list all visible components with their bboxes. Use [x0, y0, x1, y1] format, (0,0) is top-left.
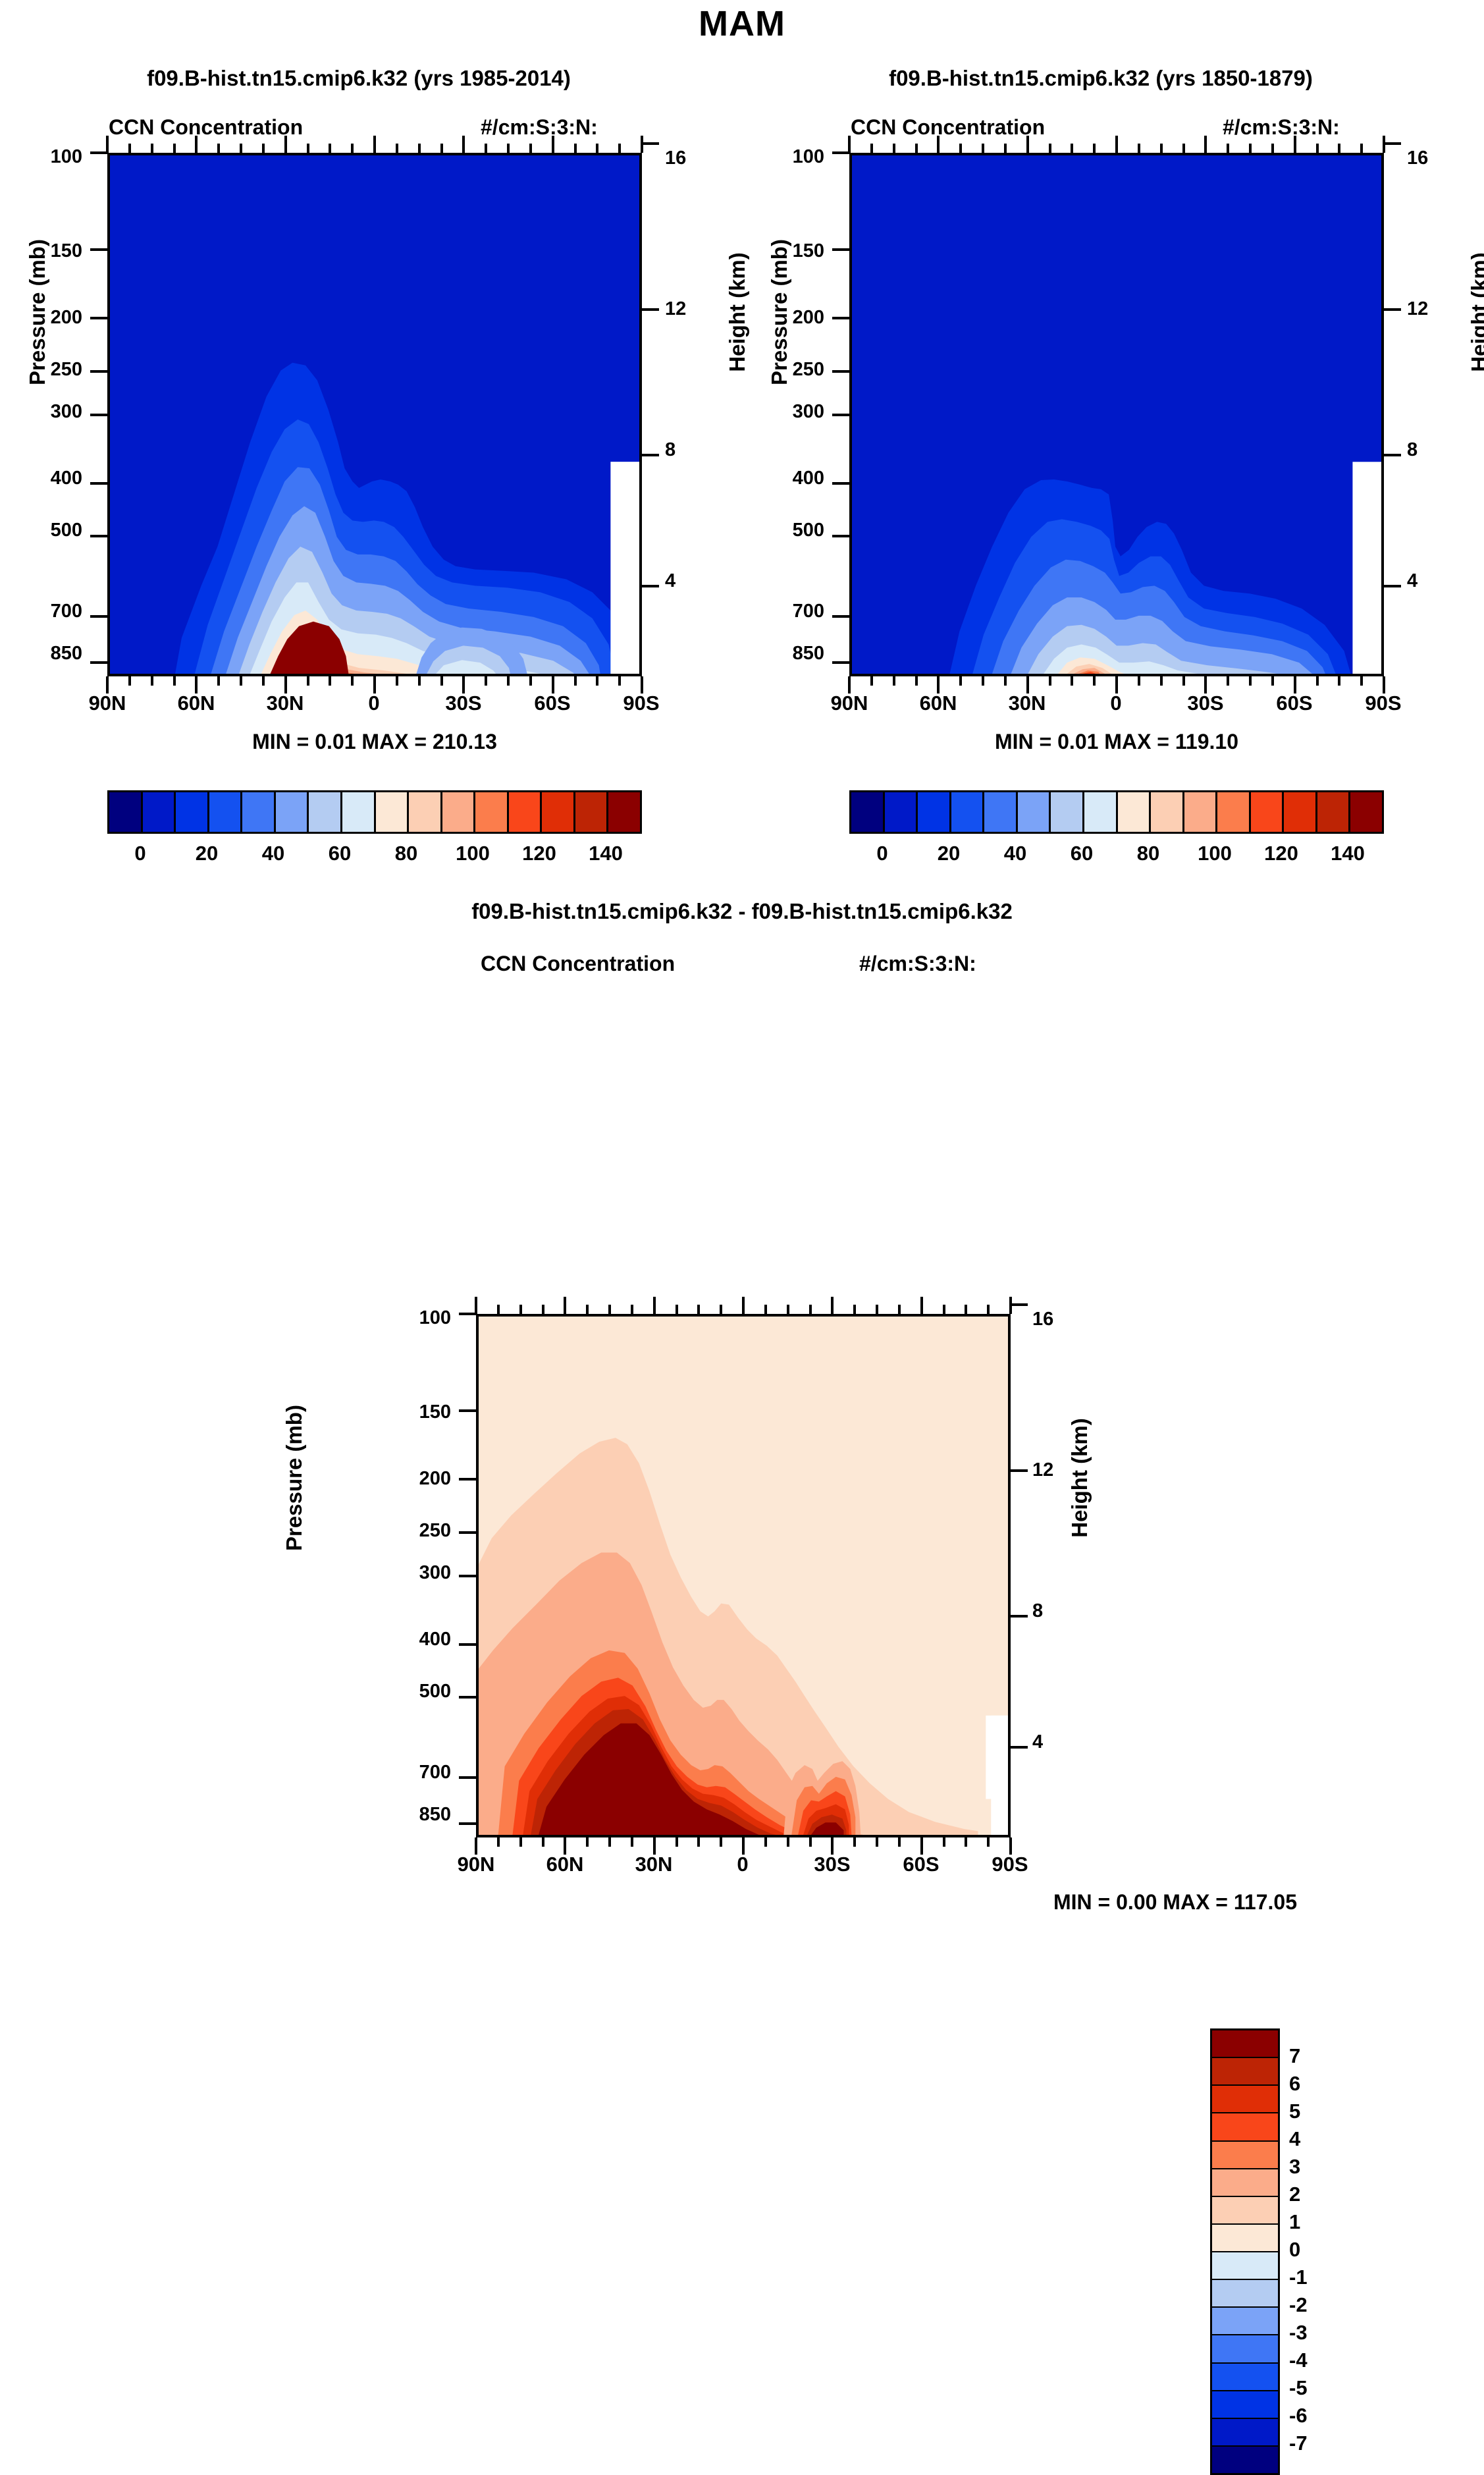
x-major-tick	[564, 1297, 566, 1314]
y2-major-tick	[642, 308, 659, 311]
y-major-tick	[459, 1478, 476, 1481]
colorbar-cell	[1212, 2030, 1278, 2058]
x-minor-tick	[618, 144, 621, 153]
xtick-30S: 30S	[1166, 692, 1245, 715]
x-minor-tick	[876, 1837, 878, 1847]
colorbar-cell	[851, 792, 885, 832]
x-minor-tick	[485, 144, 487, 153]
x-major-tick	[195, 676, 198, 694]
x-major-tick	[831, 1837, 834, 1855]
cbar-tick-60: 60	[329, 842, 351, 865]
ytick-100: 100	[13, 146, 82, 168]
x-minor-tick	[262, 144, 265, 153]
x-minor-tick	[809, 1837, 812, 1847]
xtick-90S: 90S	[970, 1853, 1049, 1876]
xtick-30N: 30N	[988, 692, 1067, 715]
x-minor-tick	[1249, 144, 1252, 153]
x-minor-tick	[965, 1837, 967, 1847]
x-minor-tick	[529, 144, 532, 153]
ytick-150: 150	[13, 240, 82, 262]
vcbar-tick-m1: -1	[1289, 2266, 1308, 2289]
x-minor-tick	[982, 144, 984, 153]
y-major-tick	[90, 414, 107, 416]
x-minor-tick	[586, 1837, 589, 1847]
colorbar-cell	[1212, 2086, 1278, 2113]
colorbar-cell	[376, 792, 410, 832]
x-minor-tick	[898, 1837, 901, 1847]
ytick-400: 400	[755, 468, 824, 489]
x-minor-tick	[965, 1305, 967, 1314]
ytick-200: 200	[755, 307, 824, 329]
cbar-tick-140: 140	[1331, 842, 1365, 865]
colorbar-cell	[1212, 2391, 1278, 2419]
cbar-tick-0: 0	[134, 842, 146, 865]
x-major-tick	[1294, 676, 1296, 694]
y2tick-8: 8	[665, 439, 676, 461]
y-major-tick	[90, 615, 107, 618]
x-minor-tick	[217, 676, 220, 686]
xtick-60N: 60N	[899, 692, 978, 715]
y2-major-tick	[642, 142, 659, 145]
y-major-tick	[832, 615, 849, 618]
x-minor-tick	[915, 676, 918, 686]
x-major-tick	[742, 1837, 745, 1855]
x-minor-tick	[870, 676, 873, 686]
x-minor-tick	[720, 1305, 722, 1314]
colorbar-cell	[475, 792, 509, 832]
ytick-300: 300	[755, 401, 824, 423]
x-major-tick	[462, 136, 465, 153]
x-major-tick	[641, 676, 643, 694]
figure-title: MAM	[0, 3, 1484, 44]
panel-top-left-title: f09.B-hist.tn15.cmip6.k32 (yrs 1985-2014…	[0, 66, 718, 91]
ytick-200: 200	[382, 1468, 451, 1490]
ytick-700: 700	[382, 1762, 451, 1783]
x-minor-tick	[151, 676, 153, 686]
x-major-tick	[742, 1297, 745, 1314]
cbar-tick-100: 100	[1198, 842, 1232, 865]
x-minor-tick	[893, 144, 895, 153]
x-minor-tick	[507, 676, 510, 686]
vcbar-tick-6: 6	[1289, 2072, 1300, 2096]
x-major-tick	[848, 136, 851, 153]
x-minor-tick	[1271, 676, 1274, 686]
vcbar-tick-m7: -7	[1289, 2432, 1308, 2455]
x-minor-tick	[1004, 676, 1007, 686]
y-major-tick	[459, 1776, 476, 1779]
y2tick-8: 8	[1032, 1600, 1043, 1622]
y2-major-tick	[642, 585, 659, 587]
cbar-tick-80: 80	[1137, 842, 1159, 865]
xtick-90N: 90N	[437, 1853, 516, 1876]
x-minor-tick	[497, 1837, 500, 1847]
vcbar-tick-0: 0	[1289, 2238, 1300, 2262]
vcbar-tick-m2: -2	[1289, 2293, 1308, 2317]
x-minor-tick	[351, 144, 354, 153]
x-major-tick	[653, 1837, 656, 1855]
panel-top-right-variable-label: CCN Concentration	[851, 115, 1045, 140]
x-minor-tick	[1316, 676, 1319, 686]
x-minor-tick	[151, 144, 153, 153]
x-minor-tick	[853, 1837, 856, 1847]
colorbar-cell	[309, 792, 342, 832]
x-minor-tick	[485, 676, 487, 686]
x-major-tick	[462, 676, 465, 694]
y-major-tick	[459, 1822, 476, 1825]
y-major-tick	[832, 535, 849, 537]
x-minor-tick	[1004, 144, 1007, 153]
x-minor-tick	[809, 1305, 812, 1314]
x-major-tick	[373, 676, 376, 694]
ytick-100: 100	[382, 1307, 451, 1329]
ytick-250: 250	[13, 359, 82, 381]
x-minor-tick	[608, 1305, 611, 1314]
y-major-tick	[832, 370, 849, 373]
x-minor-tick	[396, 144, 398, 153]
ytick-250: 250	[382, 1520, 451, 1542]
x-minor-tick	[982, 676, 984, 686]
cbar-tick-40: 40	[1004, 842, 1026, 865]
colorbar-cell	[575, 792, 609, 832]
x-minor-tick	[418, 676, 421, 686]
ytick-400: 400	[13, 468, 82, 489]
x-major-tick	[1026, 136, 1029, 153]
y-major-tick	[459, 1643, 476, 1646]
ytick-850: 850	[755, 643, 824, 665]
x-minor-tick	[1182, 676, 1185, 686]
y2-major-tick	[1011, 1615, 1028, 1618]
colorbar-cell	[1118, 792, 1152, 832]
xtick-60S: 60S	[1255, 692, 1334, 715]
panel-top-right-plot	[849, 153, 1384, 676]
xtick-30S: 30S	[424, 692, 503, 715]
y2tick-16: 16	[1032, 1309, 1053, 1330]
figure-root: MAM f09.B-hist.tn15.cmip6.k32 (yrs 1985-…	[0, 0, 1484, 1581]
x-minor-tick	[440, 144, 443, 153]
x-minor-tick	[574, 676, 577, 686]
y-major-tick	[832, 414, 849, 416]
vcbar-tick-m5: -5	[1289, 2376, 1308, 2400]
x-minor-tick	[1049, 144, 1051, 153]
x-minor-tick	[307, 676, 309, 686]
ytick-700: 700	[755, 601, 824, 622]
colorbar-cell	[1212, 2364, 1278, 2391]
panel-top-left-minmax: MIN = 0.01 MAX = 210.13	[107, 730, 642, 754]
x-major-tick	[937, 676, 940, 694]
x-minor-tick	[542, 1305, 544, 1314]
vcbar-tick-4: 4	[1289, 2127, 1300, 2151]
xtick-60S: 60S	[882, 1853, 961, 1876]
colorbar-cell	[1212, 2197, 1278, 2225]
y-major-tick	[90, 370, 107, 373]
x-minor-tick	[898, 1305, 901, 1314]
x-minor-tick	[1071, 144, 1073, 153]
x-minor-tick	[574, 144, 577, 153]
colorbar-cell	[885, 792, 918, 832]
x-minor-tick	[351, 676, 354, 686]
y-major-tick	[90, 151, 107, 154]
y2-major-tick	[1384, 454, 1401, 456]
x-minor-tick	[519, 1305, 522, 1314]
x-minor-tick	[1049, 676, 1051, 686]
ytick-150: 150	[755, 240, 824, 262]
x-minor-tick	[870, 144, 873, 153]
colorbar-cell	[1212, 2169, 1278, 2197]
x-minor-tick	[618, 676, 621, 686]
cbar-tick-60: 60	[1071, 842, 1093, 865]
colorbar-cell	[176, 792, 209, 832]
y-major-tick	[832, 151, 849, 154]
colorbar-cell	[1018, 792, 1051, 832]
colorbar-cell	[1212, 2335, 1278, 2363]
y2-major-tick	[1011, 1469, 1028, 1472]
vcbar-tick-1: 1	[1289, 2210, 1300, 2234]
x-minor-tick	[329, 144, 331, 153]
panel-top-right-contour-field	[852, 155, 1381, 674]
x-major-tick	[1115, 136, 1118, 153]
colorbar-top-right-labels: 0 20 40 60 80 100 120 140	[849, 842, 1380, 868]
panel-bottom-minmax: MIN = 0.00 MAX = 117.05	[1053, 1890, 1422, 1915]
x-minor-tick	[676, 1305, 678, 1314]
colorbar-cell	[1217, 792, 1251, 832]
x-minor-tick	[262, 676, 265, 686]
colorbar-top-left-labels: 0 20 40 60 80 100 120 140	[107, 842, 638, 868]
x-minor-tick	[697, 1305, 700, 1314]
cbar-tick-0: 0	[876, 842, 888, 865]
y-major-tick	[459, 1575, 476, 1577]
cbar-tick-140: 140	[589, 842, 623, 865]
xtick-60N: 60N	[525, 1853, 604, 1876]
y-major-tick	[90, 317, 107, 319]
xtick-30N: 30N	[614, 1853, 693, 1876]
x-minor-tick	[173, 144, 176, 153]
x-minor-tick	[697, 1837, 700, 1847]
ytick-500: 500	[382, 1681, 451, 1702]
x-minor-tick	[1138, 676, 1140, 686]
colorbar-cell	[409, 792, 442, 832]
y-major-tick	[459, 1409, 476, 1412]
vcbar-tick-2: 2	[1289, 2183, 1300, 2206]
x-minor-tick	[240, 144, 242, 153]
x-minor-tick	[608, 1837, 611, 1847]
ytick-300: 300	[13, 401, 82, 423]
x-minor-tick	[128, 144, 131, 153]
colorbar-cell	[1212, 2142, 1278, 2169]
xtick-0: 0	[703, 1853, 782, 1876]
x-minor-tick	[1316, 144, 1319, 153]
colorbar-top-right[interactable]	[849, 790, 1384, 834]
colorbar-top-left[interactable]	[107, 790, 642, 834]
colorbar-cell	[984, 792, 1018, 832]
vcbar-tick-m6: -6	[1289, 2404, 1308, 2428]
xtick-30S: 30S	[793, 1853, 872, 1876]
y-major-tick	[832, 248, 849, 251]
x-major-tick	[475, 1837, 477, 1855]
panel-top-left-plot	[107, 153, 642, 676]
x-minor-tick	[596, 144, 598, 153]
colorbar-cell	[1212, 2308, 1278, 2335]
y2tick-12: 12	[1032, 1459, 1053, 1481]
x-minor-tick	[893, 676, 895, 686]
colorbar-cell	[1251, 792, 1285, 832]
x-minor-tick	[915, 144, 918, 153]
y2-major-tick	[1384, 585, 1401, 587]
colorbar-cell	[608, 792, 640, 832]
x-minor-tick	[787, 1305, 789, 1314]
colorbar-cell	[1212, 2113, 1278, 2141]
x-minor-tick	[418, 144, 421, 153]
y2-major-tick	[1384, 142, 1401, 145]
y-major-tick	[459, 1531, 476, 1534]
x-major-tick	[831, 1297, 834, 1314]
panel-top-right-minmax: MIN = 0.01 MAX = 119.10	[849, 730, 1384, 754]
x-minor-tick	[787, 1837, 789, 1847]
x-major-tick	[1383, 676, 1385, 694]
x-major-tick	[195, 136, 198, 153]
cbar-tick-120: 120	[1264, 842, 1298, 865]
panel-top-right-units-label: #/cm:S:3:N:	[1223, 115, 1340, 140]
x-minor-tick	[128, 676, 131, 686]
x-minor-tick	[1271, 144, 1274, 153]
panel-top-left-height-axis-label: Height (km)	[725, 213, 750, 411]
xtick-90S: 90S	[602, 692, 681, 715]
colorbar-cell	[209, 792, 243, 832]
x-minor-tick	[1182, 144, 1185, 153]
cbar-tick-40: 40	[262, 842, 284, 865]
x-major-tick	[552, 676, 554, 694]
y2tick-16: 16	[665, 148, 686, 169]
x-minor-tick	[1138, 144, 1140, 153]
colorbar-cell	[918, 792, 951, 832]
y-major-tick	[459, 1313, 476, 1315]
colorbar-cell	[1212, 2058, 1278, 2086]
vcbar-tick-m4: -4	[1289, 2349, 1308, 2372]
ytick-400: 400	[382, 1629, 451, 1650]
x-minor-tick	[943, 1305, 945, 1314]
x-minor-tick	[1338, 144, 1340, 153]
y2tick-12: 12	[665, 298, 686, 320]
x-minor-tick	[329, 676, 331, 686]
cbar-tick-20: 20	[196, 842, 218, 865]
vcbar-tick-5: 5	[1289, 2100, 1300, 2123]
x-minor-tick	[943, 1837, 945, 1847]
x-major-tick	[1204, 136, 1207, 153]
y2tick-4: 4	[1032, 1731, 1043, 1753]
x-minor-tick	[519, 1837, 522, 1847]
x-minor-tick	[959, 676, 962, 686]
x-minor-tick	[1093, 676, 1096, 686]
y-major-tick	[459, 1696, 476, 1699]
x-minor-tick	[396, 676, 398, 686]
y2tick-4: 4	[1407, 570, 1418, 592]
x-major-tick	[475, 1297, 477, 1314]
colorbar-cell	[1084, 792, 1118, 832]
x-major-tick	[1294, 136, 1296, 153]
x-major-tick	[284, 136, 287, 153]
ytick-250: 250	[755, 359, 824, 381]
x-major-tick	[1115, 676, 1118, 694]
x-minor-tick	[1360, 144, 1363, 153]
ytick-300: 300	[382, 1562, 451, 1584]
y-major-tick	[832, 317, 849, 319]
y2-major-tick	[642, 454, 659, 456]
cbar-tick-20: 20	[938, 842, 960, 865]
x-minor-tick	[631, 1837, 633, 1847]
x-minor-tick	[1338, 676, 1340, 686]
cbar-tick-80: 80	[395, 842, 417, 865]
x-minor-tick	[1360, 676, 1363, 686]
y2tick-4: 4	[665, 570, 676, 592]
panel-bottom-units-label: #/cm:S:3:N:	[859, 952, 976, 976]
y-major-tick	[90, 535, 107, 537]
panel-top-left-contour-field	[110, 155, 639, 674]
y-major-tick	[832, 661, 849, 664]
colorbar-cell	[1212, 2419, 1278, 2447]
ytick-500: 500	[13, 520, 82, 541]
xtick-90N: 90N	[810, 692, 889, 715]
xtick-90S: 90S	[1344, 692, 1423, 715]
colorbar-difference-labels: 7 6 5 4 3 2 1 0 -1 -2 -3 -4 -5 -6 -7	[1289, 2028, 1368, 2471]
x-minor-tick	[720, 1837, 722, 1847]
colorbar-cell	[1212, 2280, 1278, 2308]
colorbar-cell	[342, 792, 376, 832]
x-minor-tick	[764, 1837, 767, 1847]
panel-bottom-height-axis-label: Height (km)	[1067, 1379, 1092, 1577]
x-minor-tick	[497, 1305, 500, 1314]
x-minor-tick	[987, 1837, 990, 1847]
x-major-tick	[552, 136, 554, 153]
colorbar-cell	[276, 792, 309, 832]
y-major-tick	[832, 482, 849, 485]
x-minor-tick	[987, 1305, 990, 1314]
x-major-tick	[1026, 676, 1029, 694]
xtick-90N: 90N	[68, 692, 147, 715]
colorbar-cell	[1212, 2225, 1278, 2252]
x-minor-tick	[764, 1305, 767, 1314]
panel-top-right-title: f09.B-hist.tn15.cmip6.k32 (yrs 1850-1879…	[742, 66, 1460, 91]
colorbar-difference[interactable]	[1210, 2028, 1280, 2475]
x-minor-tick	[596, 676, 598, 686]
vcbar-tick-7: 7	[1289, 2044, 1300, 2068]
panel-top-left-units-label: #/cm:S:3:N:	[481, 115, 598, 140]
x-major-tick	[564, 1837, 566, 1855]
x-minor-tick	[1227, 144, 1229, 153]
cbar-tick-120: 120	[522, 842, 556, 865]
x-minor-tick	[631, 1305, 633, 1314]
colorbar-cell	[242, 792, 276, 832]
ytick-200: 200	[13, 307, 82, 329]
xtick-0: 0	[334, 692, 413, 715]
panel-top-left-variable-label: CCN Concentration	[109, 115, 303, 140]
x-major-tick	[848, 676, 851, 694]
x-major-tick	[284, 676, 287, 694]
x-minor-tick	[1227, 676, 1229, 686]
x-minor-tick	[240, 676, 242, 686]
colorbar-cell	[1051, 792, 1084, 832]
panel-top-right-height-axis-label: Height (km)	[1467, 213, 1484, 411]
ytick-700: 700	[13, 601, 82, 622]
colorbar-cell	[509, 792, 543, 832]
ytick-850: 850	[382, 1804, 451, 1826]
colorbar-cell	[109, 792, 143, 832]
colorbar-cell	[1212, 2447, 1278, 2473]
y2tick-12: 12	[1407, 298, 1428, 320]
x-minor-tick	[307, 144, 309, 153]
x-major-tick	[106, 136, 109, 153]
y2tick-16: 16	[1407, 148, 1428, 169]
colorbar-cell	[1151, 792, 1184, 832]
ytick-850: 850	[13, 643, 82, 665]
